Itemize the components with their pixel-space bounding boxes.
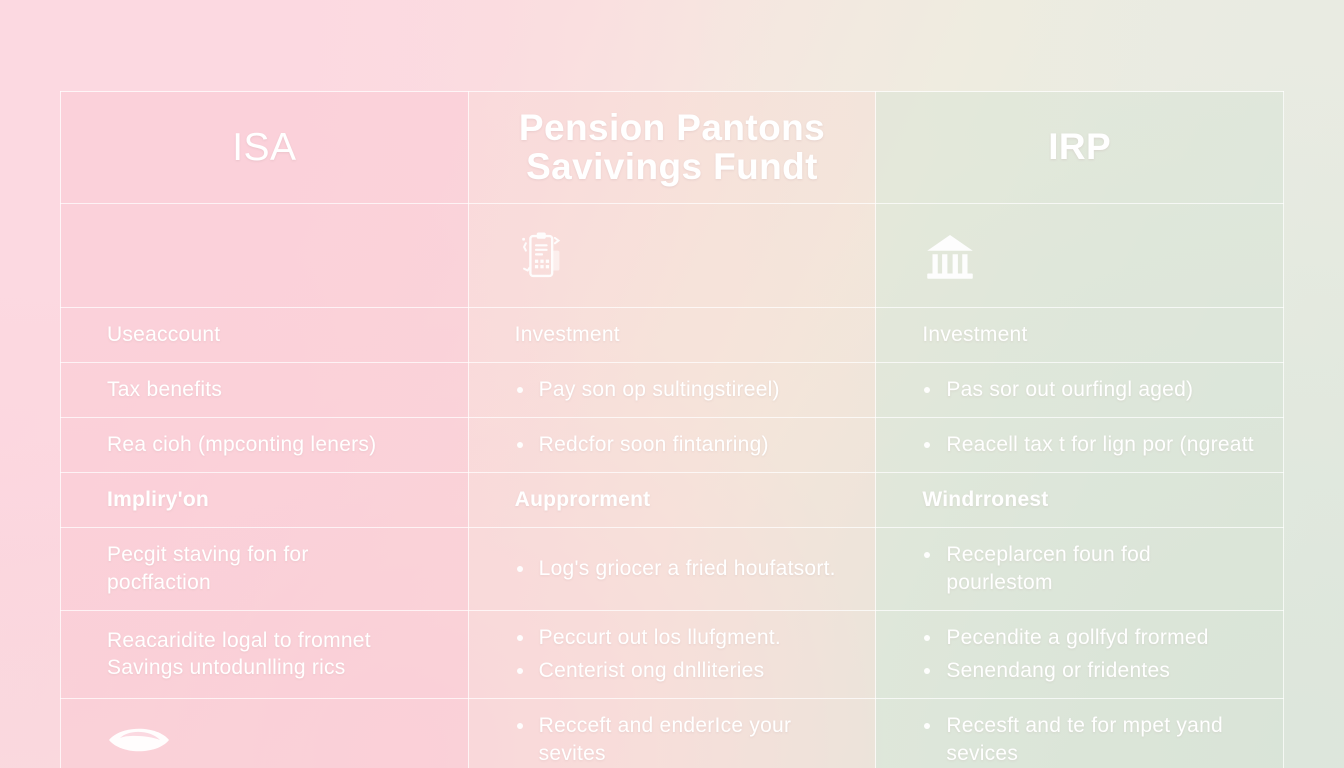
bullet-list: Pecendite a gollfyd frormed Senendang or…	[922, 624, 1261, 686]
cell-content: Recesft and te for mpet yand sevices	[876, 699, 1283, 768]
bullet-list: Pay son op sultingstireel)	[515, 376, 854, 404]
table-row: Useaccount Investment Investment	[61, 308, 1284, 363]
column-title-pension-line2: Savivings Fundt	[469, 148, 876, 187]
bullet-list: Reacell tax t for lign por (ngreatt	[922, 431, 1261, 459]
cell-reduction-irp: Reacell tax t for lign por (ngreatt	[876, 417, 1284, 472]
cell-services-pension: Recceft and enderIce your sevites	[468, 699, 876, 768]
bullet-list: Receplarcen foun fod pourlestom	[922, 541, 1261, 597]
column-header-isa: ISA	[61, 92, 469, 204]
cell-content: Impliry'on	[61, 473, 468, 527]
cell-content: Redcfor soon fintanring)	[469, 418, 876, 472]
bullet-item: Centerist ong dnlliteries	[515, 657, 854, 685]
cell-line: Aupprorment	[515, 486, 854, 514]
icon-slot-services	[61, 699, 468, 768]
cell-saving-isa: Pecgit staving fon for pocffaction	[61, 527, 469, 610]
table-row: Pecgit staving fon for pocffaction Log's…	[61, 527, 1284, 610]
icon-slot-isa	[61, 204, 468, 307]
cell-content: Reacell tax t for lign por (ngreatt	[876, 418, 1283, 472]
cell-implication-irp: Windrronest	[876, 472, 1284, 527]
cell-content: Log's griocer a fried houfatsort.	[469, 542, 876, 596]
cell-line: Windrronest	[922, 486, 1261, 514]
cell-tax-pension: Pay son op sultingstireel)	[468, 362, 876, 417]
bullet-item: Redcfor soon fintanring)	[515, 431, 854, 459]
cell-line: Savings untodunlling rics	[107, 654, 446, 682]
column-title-irp: IRP	[876, 128, 1283, 167]
icon-slot-irp	[876, 204, 1283, 307]
cell-content: Peccurt out los llufgment. Centerist ong…	[469, 611, 876, 699]
table-icon-row	[61, 204, 1284, 308]
comparison-table-container: ISA Pension Pantons Savivings Fundt IRP	[60, 91, 1284, 724]
cell-line: Pecgit staving fon for	[107, 541, 446, 569]
bullet-item: Log's griocer a fried houfatsort.	[515, 555, 854, 583]
bullet-list: Recesft and te for mpet yand sevices	[922, 712, 1261, 768]
cell-content: Rea cioh (mpconting leners)	[61, 418, 468, 472]
cell-content: Pay son op sultingstireel)	[469, 363, 876, 417]
column-header-irp: IRP	[876, 92, 1284, 204]
icon-slot-pension	[469, 204, 876, 307]
table-row: Impliry'on Aupprorment Windrronest	[61, 472, 1284, 527]
bullet-item: Pay son op sultingstireel)	[515, 376, 854, 404]
cell-content: Aupprorment	[469, 473, 876, 527]
cell-content: Windrronest	[876, 473, 1283, 527]
cell-content: Receplarcen foun fod pourlestom	[876, 528, 1283, 610]
bullet-item: Recesft and te for mpet yand sevices	[922, 712, 1261, 768]
comparison-table: ISA Pension Pantons Savivings Fundt IRP	[60, 91, 1284, 768]
cell-line: Investment	[922, 321, 1261, 349]
column-title-isa: ISA	[61, 128, 468, 167]
bullet-item: Receplarcen foun fod pourlestom	[922, 541, 1261, 597]
cell-tax-irp: Pas sor out ourfingl aged)	[876, 362, 1284, 417]
cell-use-isa: Useaccount	[61, 308, 469, 363]
cell-services-irp: Recesft and te for mpet yand sevices	[876, 699, 1284, 768]
cell-implication-isa: Impliry'on	[61, 472, 469, 527]
cell-saving-irp: Receplarcen foun fod pourlestom	[876, 527, 1284, 610]
cell-saving-pension: Log's griocer a fried houfatsort.	[468, 527, 876, 610]
cell-content: Useaccount	[61, 308, 468, 362]
cell-legal-isa: Reacaridite logal to fromnet Savings unt…	[61, 610, 469, 699]
cell-reduction-isa: Rea cioh (mpconting leners)	[61, 417, 469, 472]
bullet-item: Pecendite a gollfyd frormed	[922, 624, 1261, 652]
cell-line: Impliry'on	[107, 486, 446, 514]
bullet-item: Reacell tax t for lign por (ngreatt	[922, 431, 1261, 459]
cell-reduction-pension: Redcfor soon fintanring)	[468, 417, 876, 472]
column-title-pension-line1: Pension Pantons	[469, 109, 876, 148]
cell-use-pension: Investment	[468, 308, 876, 363]
cell-services-isa	[61, 699, 469, 768]
bullet-list: Log's griocer a fried houfatsort.	[515, 555, 854, 583]
table-row: Recceft and enderIce your sevites Recesf…	[61, 699, 1284, 768]
cell-content: Pecgit staving fon for pocffaction	[61, 528, 468, 610]
bullet-list: Redcfor soon fintanring)	[515, 431, 854, 459]
table-row: Tax benefits Pay son op sultingstireel) …	[61, 362, 1284, 417]
icon-cell-isa	[61, 204, 469, 308]
bullet-list: Peccurt out los llufgment. Centerist ong…	[515, 624, 854, 686]
cell-use-irp: Investment	[876, 308, 1284, 363]
bullet-list: Recceft and enderIce your sevites	[515, 712, 854, 768]
bullet-item: Peccurt out los llufgment.	[515, 624, 854, 652]
eye-icon	[107, 723, 171, 757]
cell-line: pocffaction	[107, 569, 446, 597]
cell-content: Investment	[876, 308, 1283, 362]
table-header-row: ISA Pension Pantons Savivings Fundt IRP	[61, 92, 1284, 204]
cell-content: Pecendite a gollfyd frormed Senendang or…	[876, 611, 1283, 699]
cell-content: Investment	[469, 308, 876, 362]
bullet-item: Pas sor out ourfingl aged)	[922, 376, 1261, 404]
bullet-item: Recceft and enderIce your sevites	[515, 712, 854, 768]
cell-legal-pension: Peccurt out los llufgment. Centerist ong…	[468, 610, 876, 699]
icon-cell-pension	[468, 204, 876, 308]
cell-line: Useaccount	[107, 321, 446, 349]
cell-content: Pas sor out ourfingl aged)	[876, 363, 1283, 417]
bank-icon	[922, 228, 978, 284]
cell-content: Reacaridite logal to fromnet Savings unt…	[61, 614, 468, 696]
icon-cell-irp	[876, 204, 1284, 308]
table-row: Rea cioh (mpconting leners) Redcfor soon…	[61, 417, 1284, 472]
cell-implication-pension: Aupprorment	[468, 472, 876, 527]
cell-line: Rea cioh (mpconting leners)	[107, 431, 446, 459]
cell-tax-isa: Tax benefits	[61, 362, 469, 417]
cell-content: Tax benefits	[61, 363, 468, 417]
bullet-item: Senendang or fridentes	[922, 657, 1261, 685]
bullet-list: Pas sor out ourfingl aged)	[922, 376, 1261, 404]
column-header-pension: Pension Pantons Savivings Fundt	[468, 92, 876, 204]
clipboard-icon	[515, 227, 573, 285]
cell-legal-irp: Pecendite a gollfyd frormed Senendang or…	[876, 610, 1284, 699]
table-row: Reacaridite logal to fromnet Savings unt…	[61, 610, 1284, 699]
cell-line: Reacaridite logal to fromnet	[107, 627, 446, 655]
cell-line: Tax benefits	[107, 376, 446, 404]
cell-content: Recceft and enderIce your sevites	[469, 699, 876, 768]
cell-line: Investment	[515, 321, 854, 349]
